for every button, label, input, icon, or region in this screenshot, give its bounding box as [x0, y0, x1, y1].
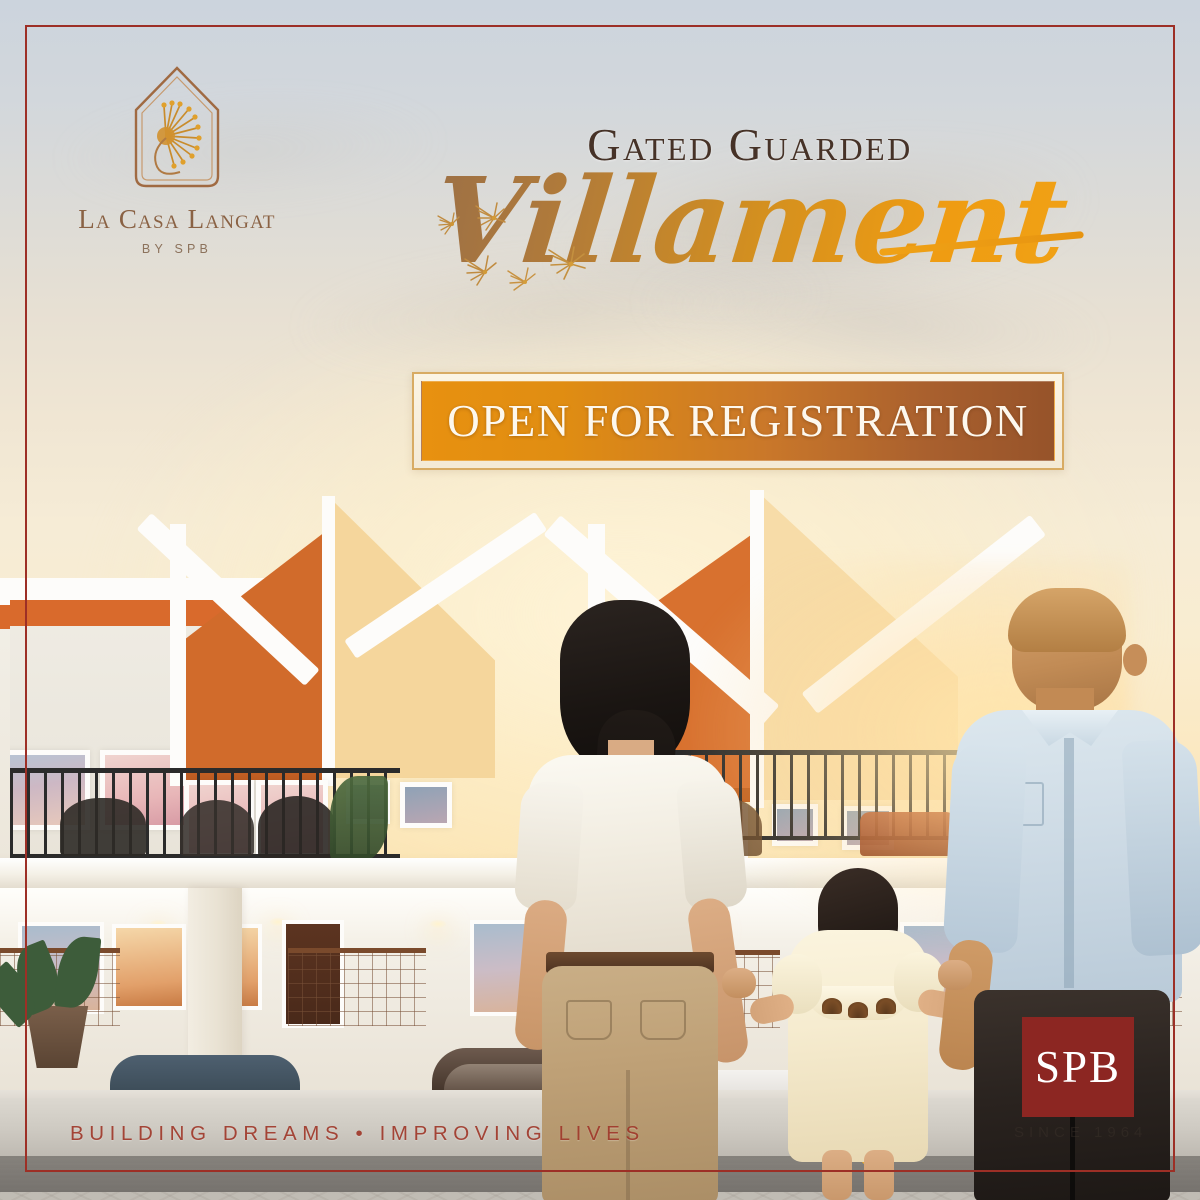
held-hands-right	[938, 960, 972, 990]
company-tagline: BUILDING DREAMS • IMPROVING LIVES	[70, 1122, 645, 1146]
registration-banner[interactable]: OPEN FOR REGISTRATION	[412, 372, 1064, 470]
mushroom-applique-icon	[822, 998, 842, 1014]
sleeve-left	[943, 740, 1028, 954]
brand-logo: La Casa Langat BY SPB	[52, 58, 302, 256]
dandelion-seeds-icon	[498, 262, 538, 301]
leg-right	[864, 1150, 894, 1200]
brand-name: La Casa Langat	[52, 204, 302, 235]
dandelion-seeds-icon	[464, 196, 508, 239]
pocket	[566, 1000, 612, 1040]
sleeve-left	[514, 780, 585, 912]
mushroom-applique-icon	[848, 1002, 868, 1018]
mushroom-applique-icon	[876, 998, 896, 1014]
house-dandelion-logo-icon	[122, 58, 232, 198]
registration-banner-fill: OPEN FOR REGISTRATION	[421, 381, 1055, 461]
dandelion-seeds-icon	[452, 248, 500, 293]
person-daughter	[782, 868, 932, 1200]
sleeve-right	[676, 778, 749, 911]
ear	[1123, 644, 1147, 676]
leg-left	[822, 1150, 852, 1200]
registration-banner-label: OPEN FOR REGISTRATION	[447, 395, 1029, 447]
shirt-placket	[1064, 738, 1074, 988]
dandelion-seeds-icon	[428, 208, 462, 243]
brand-byline: BY SPB	[52, 242, 302, 256]
person-mother	[522, 600, 737, 1200]
pocket	[640, 1000, 686, 1040]
spb-since-label: SINCE 1964	[1014, 1124, 1147, 1141]
dandelion-seeds-icon	[536, 238, 588, 287]
headline-block: Gated Guarded Villament	[410, 118, 1090, 277]
held-hands-left	[722, 968, 756, 998]
poster-canvas: La Casa Langat BY SPB Gated Guarded Vill…	[0, 0, 1200, 1200]
spb-logo-label: SPB	[1035, 1041, 1121, 1093]
hair	[1008, 588, 1126, 652]
sleeve-right	[1121, 738, 1200, 957]
spb-logo-badge: SPB	[1022, 1017, 1134, 1117]
